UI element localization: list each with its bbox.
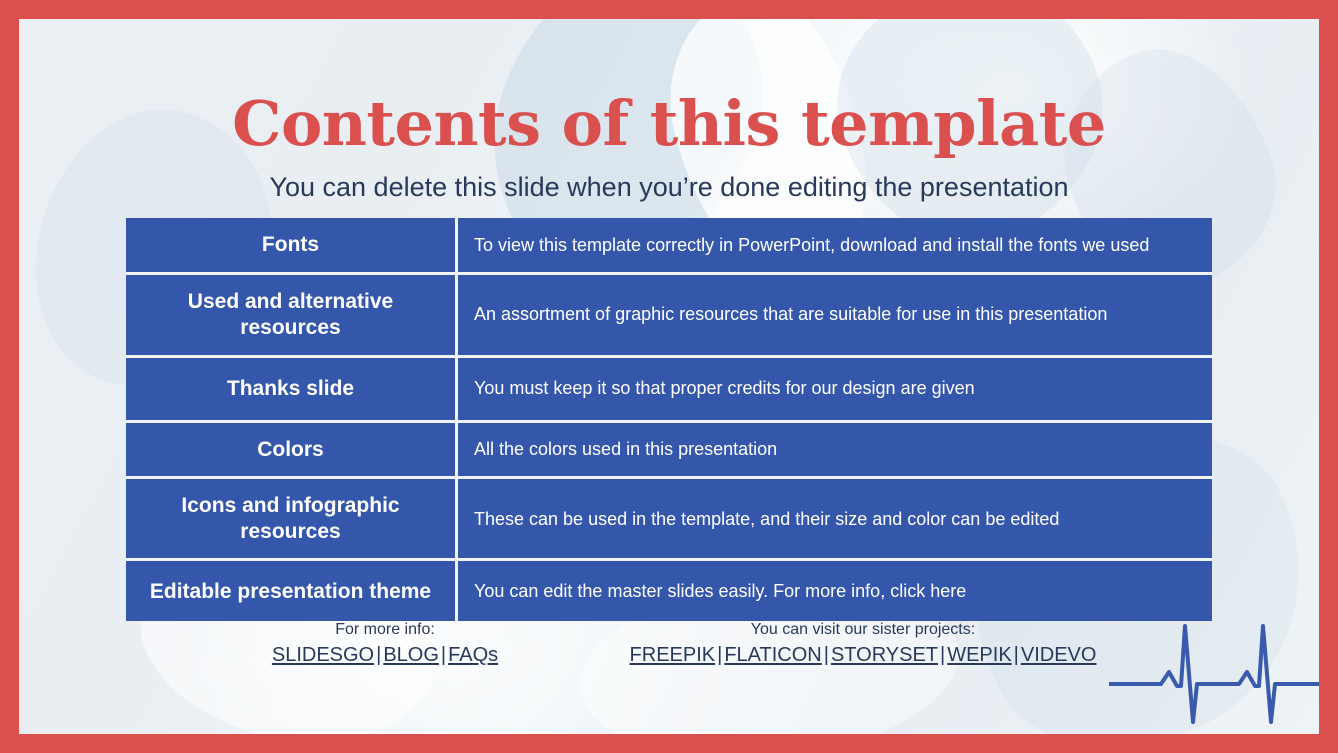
slide-canvas: Contents of this template You can delete… xyxy=(19,19,1319,734)
link-separator: | xyxy=(1012,644,1021,666)
table-cell-key: Editable presentation theme xyxy=(126,561,458,621)
page-title: Contents of this template xyxy=(19,93,1319,155)
table-cell-key: Colors xyxy=(126,423,458,480)
table-cell-key: Used and alternative resources xyxy=(126,275,458,358)
table-row: Thanks slide You must keep it so that pr… xyxy=(126,358,1212,423)
table-row: Editable presentation theme You can edit… xyxy=(126,561,1212,621)
table-cell-desc: You can edit the master slides easily. F… xyxy=(458,561,1212,621)
link-wepik[interactable]: WEPIK xyxy=(947,644,1011,666)
footer-more-info: For more info: SLIDESGO|BLOG|FAQs xyxy=(240,619,530,669)
table-row: Icons and infographic resources These ca… xyxy=(126,479,1212,561)
table-row: Colors All the colors used in this prese… xyxy=(126,423,1212,480)
link-videvo[interactable]: VIDEVO xyxy=(1021,644,1097,666)
link-separator: | xyxy=(938,644,947,666)
link-flaticon[interactable]: FLATICON xyxy=(724,644,821,666)
link-freepik[interactable]: FREEPIK xyxy=(630,644,716,666)
footer-sister-projects: You can visit our sister projects: FREEP… xyxy=(605,619,1121,669)
footer-left-caption: For more info: xyxy=(240,619,530,641)
footer-right-caption: You can visit our sister projects: xyxy=(605,619,1121,641)
table-cell-key: Fonts xyxy=(126,218,458,275)
table-cell-desc: An assortment of graphic resources that … xyxy=(458,275,1212,358)
link-blog[interactable]: BLOG xyxy=(383,644,439,666)
link-faqs[interactable]: FAQs xyxy=(448,644,498,666)
table-cell-key: Icons and infographic resources xyxy=(126,479,458,561)
footer-right-links: FREEPIK|FLATICON|STORYSET|WEPIK|VIDEVO xyxy=(605,642,1121,669)
footer-left-links: SLIDESGO|BLOG|FAQs xyxy=(240,642,530,669)
table-cell-desc: To view this template correctly in Power… xyxy=(458,218,1212,275)
table-row: Used and alternative resources An assort… xyxy=(126,275,1212,358)
link-separator: | xyxy=(715,644,724,666)
slide-root: Contents of this template You can delete… xyxy=(0,0,1338,753)
link-separator: | xyxy=(822,644,831,666)
link-separator: | xyxy=(439,644,448,666)
table-cell-key: Thanks slide xyxy=(126,358,458,423)
table-cell-desc: All the colors used in this presentation xyxy=(458,423,1212,480)
page-subtitle: You can delete this slide when you’re do… xyxy=(19,171,1319,203)
contents-table: Fonts To view this template correctly in… xyxy=(126,218,1212,621)
link-separator: | xyxy=(374,644,383,666)
table-cell-desc: These can be used in the template, and t… xyxy=(458,479,1212,561)
table-cell-desc: You must keep it so that proper credits … xyxy=(458,358,1212,423)
link-storyset[interactable]: STORYSET xyxy=(831,644,938,666)
heartbeat-pulse-icon xyxy=(1109,610,1319,726)
link-slidesgo[interactable]: SLIDESGO xyxy=(272,644,374,666)
table-row: Fonts To view this template correctly in… xyxy=(126,218,1212,275)
